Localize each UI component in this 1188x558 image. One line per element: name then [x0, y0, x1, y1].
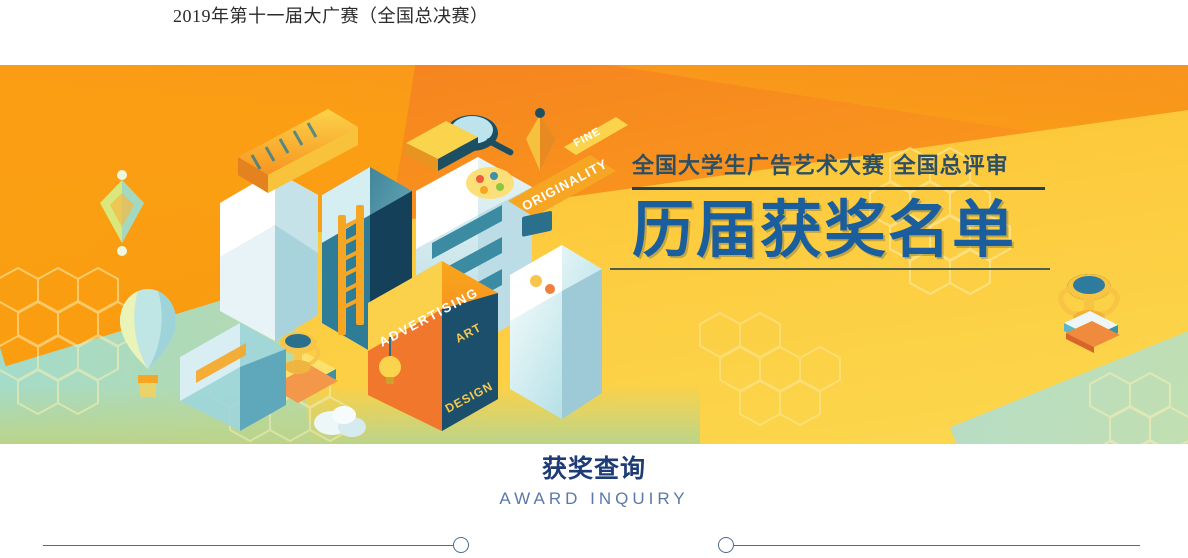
decorative-circle-left [453, 537, 469, 553]
award-inquiry-heading-cn: 获奖查询 [0, 454, 1188, 484]
banner-rule-bottom [610, 268, 1050, 270]
isometric-illustration: ORIGINALITY FINE ADVERTISING ART [70, 75, 630, 444]
hero-banner: ORIGINALITY FINE ADVERTISING ART [0, 65, 1188, 444]
page-title-bar: 2019年第十一届大广赛（全国总决赛） [0, 0, 1188, 65]
banner-headline: 历届获奖名单 [632, 196, 1062, 264]
kite-icon [100, 170, 144, 256]
palette-icon [466, 167, 514, 199]
compass-icon [526, 108, 556, 171]
trophy-icon [1050, 261, 1128, 353]
banner-subtitle: 全国大学生广告艺术大赛 全国总评审 [632, 153, 1062, 181]
svg-text:ORIGINALITY: ORIGINALITY [519, 156, 610, 214]
originality-panel: ORIGINALITY FINE [508, 117, 628, 217]
banner-copy: 全国大学生广告艺术大赛 全国总评审 历届获奖名单 [632, 153, 1062, 270]
honeycomb-pattern-right-icon [1080, 365, 1188, 444]
hot-air-balloon-icon [120, 289, 176, 397]
decorative-circle-right [718, 537, 734, 553]
award-inquiry-heading-group: 获奖查询 AWARD INQUIRY [0, 454, 1188, 510]
page-title: 2019年第十一届大广赛（全国总决赛） [173, 4, 1188, 28]
decorative-line-left [43, 545, 453, 546]
banner-rule-top [632, 187, 1045, 190]
decorative-line-right [734, 545, 1140, 546]
cloud-icon [314, 406, 366, 437]
award-inquiry-section: 获奖查询 AWARD INQUIRY [0, 444, 1188, 558]
award-inquiry-heading-en: AWARD INQUIRY [0, 488, 1188, 510]
honeycomb-pattern-center-icon [690, 305, 860, 444]
